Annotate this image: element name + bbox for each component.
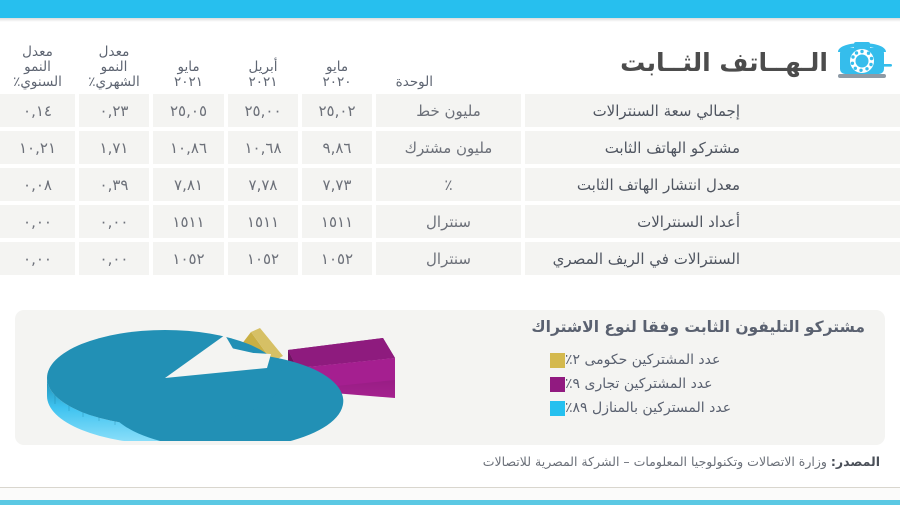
header-line: النمو: [88, 60, 139, 75]
cell-may-2020: ١٥١١: [302, 205, 372, 238]
cell-monthly-growth: ١,٧١: [79, 131, 149, 164]
indicator-label: مشتركو الهاتف الثابت: [525, 139, 900, 157]
header-line: الوحدة: [376, 75, 521, 90]
header-line: ٢٠٢٠: [323, 75, 352, 90]
legend-label: عدد المشتركين حكومى ٢٪: [565, 352, 720, 368]
legend-item: عدد المشتركين حكومى ٢٪: [541, 348, 871, 372]
cell-monthly-growth: ٠,٣٩: [79, 168, 149, 201]
column-header-monthly-growth: معدل النمو الشهري٪: [79, 30, 149, 92]
cell-may-2020: ٢٥,٠٢: [302, 94, 372, 127]
source-note: المصدر: وزارة الاتصالات وتكنولوجيا المعل…: [483, 454, 880, 469]
header-line: مايو: [174, 60, 203, 75]
legend-swatch-household-icon: [550, 401, 565, 416]
cell-unit: ٪: [376, 168, 521, 201]
cell-april-2021: ٢٥,٠٠: [228, 94, 298, 127]
header-line: أبريل: [249, 60, 278, 75]
header-line: معدل: [13, 45, 62, 60]
cell-may-2020: ٧,٧٣: [302, 168, 372, 201]
column-header-april-2021: أبريل ٢٠٢١: [228, 30, 298, 92]
column-header-may-2020: مايو ٢٠٢٠: [302, 30, 372, 92]
table-row: ١٠,٢١ ١,٧١ ١٠,٨٦ ١٠,٦٨ ٩,٨٦ مليون مشترك …: [0, 129, 900, 166]
column-header-may-2021: مايو ٢٠٢١: [153, 30, 224, 92]
legend-item: عدد المستركين بالمنازل ٨٩٪: [541, 396, 871, 420]
legend-label: عدد المستركين بالمنازل ٨٩٪: [565, 400, 731, 416]
cell-may-2021: ١٥١١: [153, 205, 224, 238]
indicator-label: السنترالات في الريف المصري: [525, 250, 900, 268]
cell-april-2021: ١٥١١: [228, 205, 298, 238]
indicators-table: معدل النمو السنوي٪ معدل النمو الشهري٪ ما…: [0, 30, 900, 277]
cell-unit: مليون خط: [376, 94, 521, 127]
cell-indicator: أعداد السنترالات: [525, 205, 900, 238]
cell-unit: سنترال: [376, 242, 521, 275]
cell-indicator: السنترالات في الريف المصري: [525, 242, 900, 275]
header-line: السنوي٪: [13, 75, 62, 90]
legend-label: عدد المشتركين تجارى ٩٪: [565, 376, 713, 392]
cell-indicator: إجمالي سعة السنترالات: [525, 94, 900, 127]
cell-monthly-growth: ٠,٠٠: [79, 242, 149, 275]
cell-may-2020: ١٠٥٢: [302, 242, 372, 275]
chart-legend: عدد المشتركين حكومى ٢٪ عدد المشتركين تجا…: [541, 348, 871, 420]
column-header-indicator: [525, 30, 900, 92]
cell-april-2021: ١٠,٦٨: [228, 131, 298, 164]
indicator-label: أعداد السنترالات: [525, 213, 900, 231]
top-accent-bar: [0, 0, 900, 18]
cell-unit: مليون مشترك: [376, 131, 521, 164]
cell-may-2021: ٢٥,٠٥: [153, 94, 224, 127]
header-line: ٢٠٢١: [174, 75, 203, 90]
pie-chart-3d: [35, 316, 435, 441]
chart-panel: مشتركو التليفون الثابت وفقا لنوع الاشترا…: [15, 310, 885, 445]
report-page: الـهــاتف الثــابت معدل النمو السنوي٪ مع…: [0, 22, 900, 487]
cell-may-2021: ٧,٨١: [153, 168, 224, 201]
table-row: ٠,٠٠ ٠,٠٠ ١٠٥٢ ١٠٥٢ ١٠٥٢ سنترال السنترال…: [0, 240, 900, 277]
cell-may-2020: ٩,٨٦: [302, 131, 372, 164]
cell-annual-growth: ٠,١٤: [0, 94, 75, 127]
cell-may-2021: ١٠,٨٦: [153, 131, 224, 164]
cell-indicator: معدل انتشار الهاتف الثابت: [525, 168, 900, 201]
cell-april-2021: ٧,٧٨: [228, 168, 298, 201]
cell-annual-growth: ١٠,٢١: [0, 131, 75, 164]
cell-annual-growth: ٠,٠٠: [0, 205, 75, 238]
cell-indicator: مشتركو الهاتف الثابت: [525, 131, 900, 164]
legend-item: عدد المشتركين تجارى ٩٪: [541, 372, 871, 396]
source-text: وزارة الاتصالات وتكنولوجيا المعلومات – ا…: [483, 454, 827, 469]
cell-annual-growth: ٠,٠٨: [0, 168, 75, 201]
footer-accent-bar: [0, 500, 900, 505]
header-line: مايو: [323, 60, 352, 75]
column-header-annual-growth: معدل النمو السنوي٪: [0, 30, 75, 92]
header-line: معدل: [88, 45, 139, 60]
indicator-label: معدل انتشار الهاتف الثابت: [525, 176, 900, 194]
source-label: المصدر:: [831, 454, 880, 469]
cell-monthly-growth: ٠,٢٣: [79, 94, 149, 127]
chart-title: مشتركو التليفون الثابت وفقا لنوع الاشترا…: [531, 318, 865, 336]
header-line: النمو: [13, 60, 62, 75]
cell-unit: سنترال: [376, 205, 521, 238]
table-row: ٠,٠٨ ٠,٣٩ ٧,٨١ ٧,٧٨ ٧,٧٣ ٪ معدل انتشار ا…: [0, 166, 900, 203]
table-row: ٠,١٤ ٠,٢٣ ٢٥,٠٥ ٢٥,٠٠ ٢٥,٠٢ مليون خط إجم…: [0, 92, 900, 129]
table-header-row: معدل النمو السنوي٪ معدل النمو الشهري٪ ما…: [0, 30, 900, 92]
column-header-unit: الوحدة: [376, 30, 521, 92]
header-line: الشهري٪: [88, 75, 139, 90]
table-row: ٠,٠٠ ٠,٠٠ ١٥١١ ١٥١١ ١٥١١ سنترال أعداد ال…: [0, 203, 900, 240]
cell-may-2021: ١٠٥٢: [153, 242, 224, 275]
cell-annual-growth: ٠,٠٠: [0, 242, 75, 275]
cell-april-2021: ١٠٥٢: [228, 242, 298, 275]
legend-swatch-government-icon: [550, 353, 565, 368]
indicator-label: إجمالي سعة السنترالات: [525, 102, 900, 120]
legend-swatch-commercial-icon: [550, 377, 565, 392]
header-line: ٢٠٢١: [249, 75, 278, 90]
cell-monthly-growth: ٠,٠٠: [79, 205, 149, 238]
